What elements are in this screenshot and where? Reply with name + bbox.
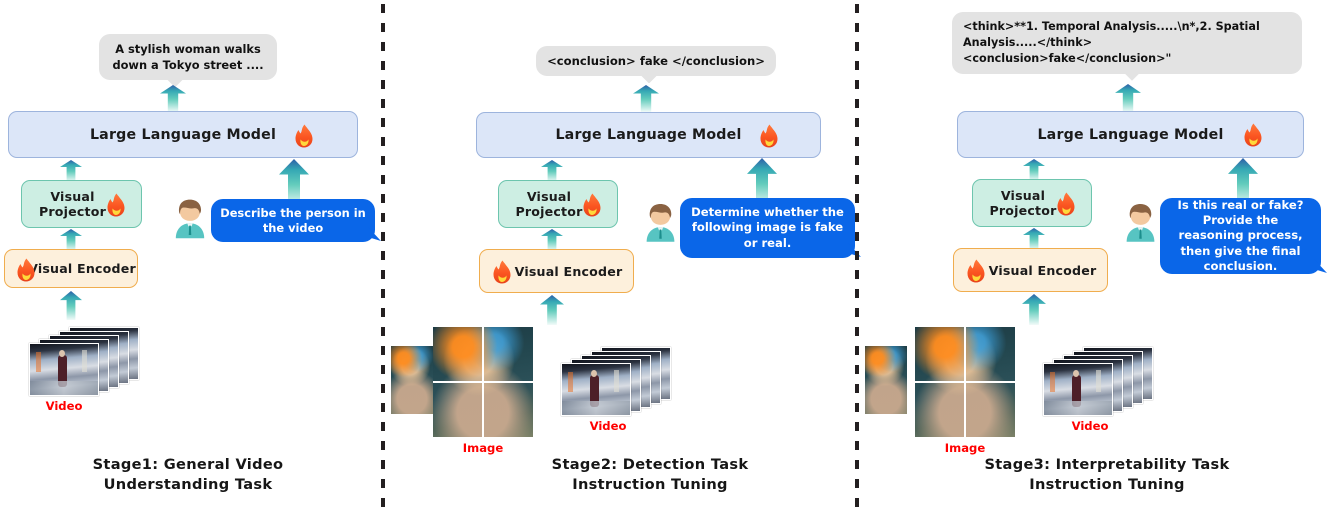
stage-1-output-bubble: A stylish woman walks down a Tokyo stree… [99,34,277,80]
bubble-tail [1313,258,1327,273]
stage-3-projector-box: Visual Projector [972,179,1092,227]
stage-3-image-thumbnail-small [865,346,907,414]
stage-3-caption: Stage3: Interpretability Task Instructio… [942,455,1272,494]
stage-3-output-text: <think>**1. Temporal Analysis.....\n*,2.… [963,19,1291,67]
stage-2-image-grid [433,327,533,437]
projector-to-llm-arrow [1023,159,1045,181]
stage-2-prompt-bubble[interactable]: Determine whether the following image is… [680,198,855,258]
stage-2-encoder-box: Visual Encoder [479,249,634,293]
stage-1-video-caption: Video [29,399,99,413]
llm-to-output-arrow [633,85,659,112]
stage-3-image-caption: Image [915,441,1015,455]
user-avatar-icon [171,198,209,239]
stage-1-prompt-text: Describe the person in the video [220,206,366,236]
llm-to-output-arrow [160,85,186,112]
flame-icon [1243,123,1263,147]
flame-icon [966,259,986,283]
flame-icon [759,124,779,148]
stage-3-panel: <think>**1. Temporal Analysis.....\n*,2.… [857,0,1328,512]
projector-to-llm-arrow [60,160,82,182]
encoder-to-projector-arrow [60,229,82,251]
stage-3-video-thumbnail [1043,347,1159,417]
flame-icon [1056,192,1076,216]
stage-1-projector-box: Visual Projector [21,180,142,228]
stage-1-output-text: A stylish woman walks down a Tokyo stree… [112,42,263,72]
user-avatar-icon [642,202,679,243]
stage-1-llm-box: Large Language Model [8,111,358,158]
stage-1-panel: A stylish woman walks down a Tokyo stree… [0,0,383,512]
stage-3-prompt-text: Is this real or fake? Provide the reason… [1169,198,1312,273]
flame-icon [582,193,602,217]
stage-2-output-text: <conclusion> fake </conclusion> [547,54,765,68]
projector-label: Visual Projector [39,189,106,219]
media-to-encoder-arrow [540,295,564,325]
stage-2-image-thumbnail-small [391,346,433,414]
encoder-to-projector-arrow [1023,228,1045,250]
llm-label: Large Language Model [1037,127,1223,143]
flame-icon [106,193,126,217]
video-to-encoder-arrow [60,291,82,320]
user-avatar-icon [1122,202,1159,243]
stage-2-video-caption: Video [573,419,643,433]
projector-label: Visual Projector [989,188,1056,218]
stage-2-caption: Stage2: Detection Task Instruction Tunin… [505,455,795,494]
stage-3-encoder-box: Visual Encoder [953,248,1108,292]
stage-2-image-caption: Image [433,441,533,455]
stage-3-image-grid [915,327,1015,437]
stage-1-prompt-bubble[interactable]: Describe the person in the video [211,199,375,242]
flame-icon [294,124,314,148]
bubble-tail [367,226,381,241]
panel-divider-2 [855,4,859,508]
grid-divider [915,381,1015,383]
stage-2-panel: <conclusion> fake </conclusion> Large La… [383,0,857,512]
stage-3-llm-box: Large Language Model [957,111,1304,158]
stage-1-caption: Stage1: General Video Understanding Task [43,455,333,494]
stage-2-output-bubble: <conclusion> fake </conclusion> [536,46,776,76]
panel-divider-1 [381,4,385,508]
flame-icon [492,260,512,284]
stage-1-encoder-box: Visual Encoder [4,249,138,288]
stage-2-video-thumbnail [561,347,677,417]
media-to-encoder-arrow [1022,294,1046,325]
stage-2-prompt-text: Determine whether the following image is… [689,205,846,250]
grid-divider [433,381,533,383]
encoder-label: Visual Encoder [28,261,136,276]
projector-label: Visual Projector [515,189,582,219]
stage-3-prompt-bubble[interactable]: Is this real or fake? Provide the reason… [1160,198,1321,274]
video-frame [1043,363,1113,416]
stage-3-video-caption: Video [1055,419,1125,433]
encoder-to-projector-arrow [541,229,563,251]
stage-1-video-thumbnail [29,327,145,397]
encoder-label: Visual Encoder [989,263,1097,278]
bubble-tail [641,75,657,83]
encoder-label: Visual Encoder [515,264,623,279]
llm-label: Large Language Model [90,127,276,143]
llm-to-output-arrow [1115,84,1141,112]
stage-3-output-bubble: <think>**1. Temporal Analysis.....\n*,2.… [952,12,1302,74]
projector-to-llm-arrow [541,160,563,182]
stage-2-projector-box: Visual Projector [498,180,618,228]
video-frame [29,343,99,396]
stage-2-llm-box: Large Language Model [476,112,821,158]
bubble-tail [1124,73,1140,81]
llm-label: Large Language Model [555,127,741,143]
video-frame [561,363,631,416]
flame-icon [16,258,36,282]
